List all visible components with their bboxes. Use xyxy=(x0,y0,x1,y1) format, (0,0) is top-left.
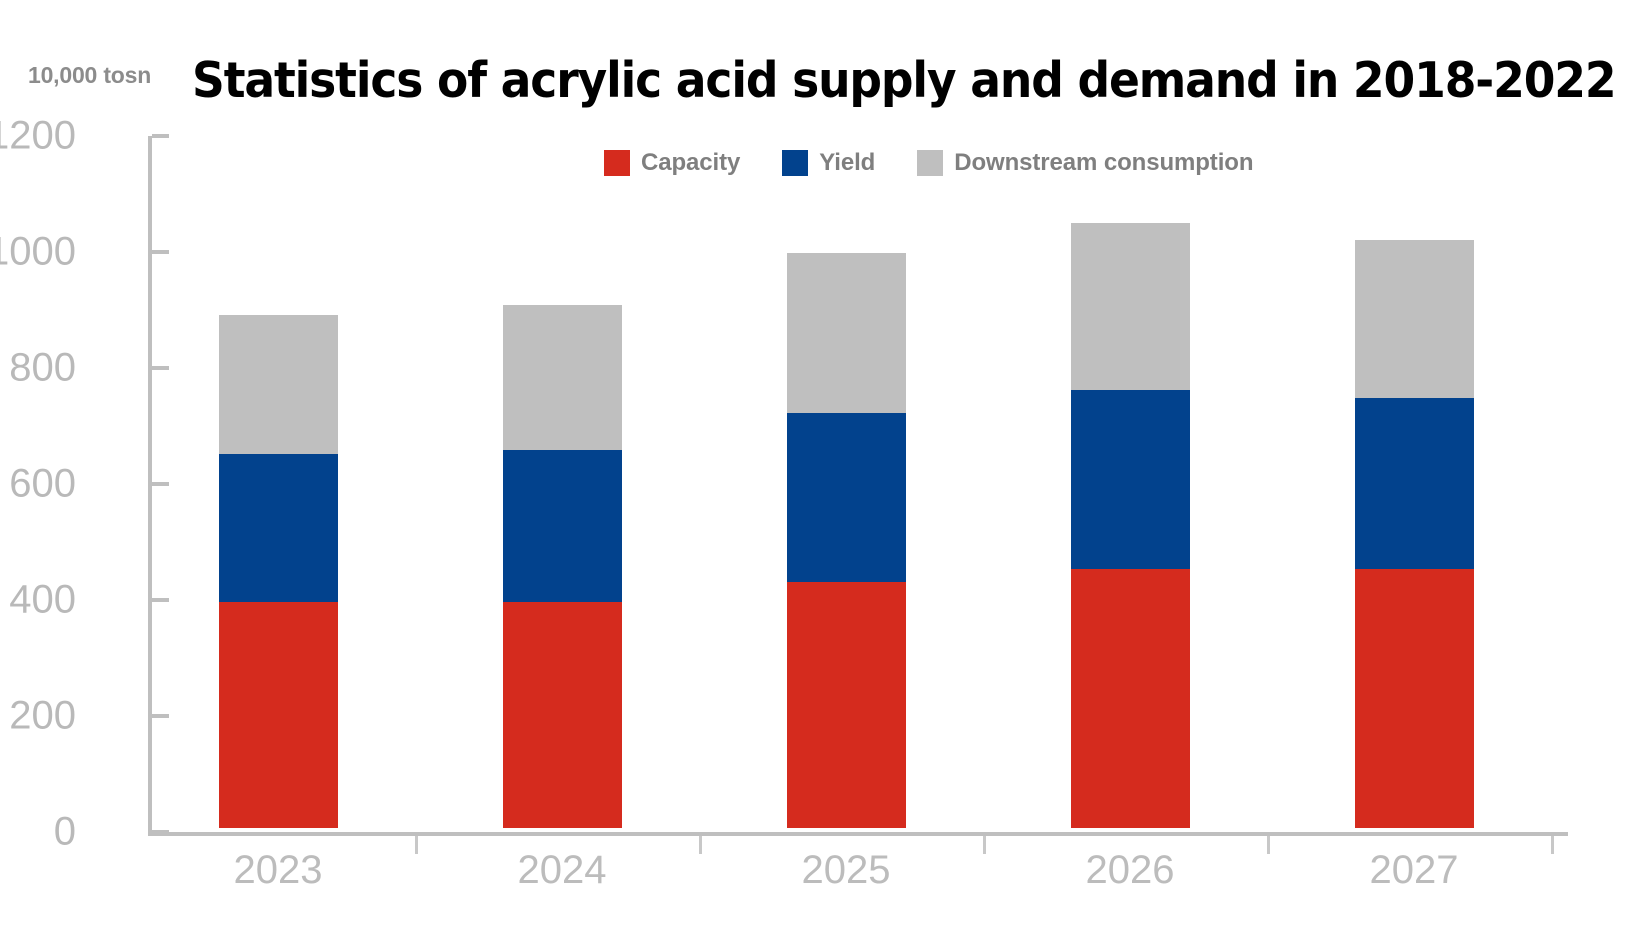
x-axis-tick xyxy=(415,836,418,854)
y-axis-line xyxy=(148,136,152,836)
y-axis-tick xyxy=(152,134,169,138)
x-axis-tick xyxy=(699,836,702,854)
y-axis-tick xyxy=(152,250,169,254)
bar-segment-capacity[interactable] xyxy=(787,582,906,829)
y-axis-tick xyxy=(152,714,169,718)
bar-segment-yield[interactable] xyxy=(1355,398,1474,569)
bar-segment-capacity[interactable] xyxy=(1071,569,1190,828)
bar-segment-downstream-consumption[interactable] xyxy=(787,253,906,414)
bar-segment-yield[interactable] xyxy=(219,454,338,602)
x-axis-tick-label: 2024 xyxy=(442,848,682,893)
y-axis-tick-label: 1000 xyxy=(0,230,76,275)
bar-segment-downstream-consumption[interactable] xyxy=(503,305,622,450)
y-axis-tick-label: 800 xyxy=(0,346,76,391)
plot-area: 0200400600800100012002023202420252026202… xyxy=(148,136,1568,832)
x-axis-tick-label: 2026 xyxy=(1010,848,1250,893)
bar-segment-capacity[interactable] xyxy=(219,602,338,828)
bar-stack-2024[interactable] xyxy=(503,305,622,828)
bar-segment-yield[interactable] xyxy=(503,450,622,602)
y-axis-tick xyxy=(152,366,169,370)
y-axis-tick-label: 1200 xyxy=(0,114,76,159)
y-axis-tick xyxy=(152,598,169,602)
bar-segment-yield[interactable] xyxy=(787,413,906,581)
bar-segment-capacity[interactable] xyxy=(1355,569,1474,828)
y-axis-unit-caption: 10,000 tosn xyxy=(28,62,151,89)
bar-segment-downstream-consumption[interactable] xyxy=(1355,240,1474,398)
x-axis-tick-label: 2023 xyxy=(158,848,398,893)
x-axis-tick-label: 2027 xyxy=(1294,848,1534,893)
bar-segment-yield[interactable] xyxy=(1071,390,1190,569)
bar-stack-2023[interactable] xyxy=(219,315,338,828)
y-axis-tick-label: 600 xyxy=(0,462,76,507)
x-axis-tick xyxy=(983,836,986,854)
x-axis-line xyxy=(148,832,1568,836)
bar-stack-2025[interactable] xyxy=(787,253,906,828)
y-axis-tick-label: 0 xyxy=(0,810,76,855)
bar-segment-downstream-consumption[interactable] xyxy=(219,315,338,454)
bar-segment-capacity[interactable] xyxy=(503,602,622,828)
x-axis-tick-label: 2025 xyxy=(726,848,966,893)
y-axis-tick-label: 200 xyxy=(0,694,76,739)
bar-stack-2026[interactable] xyxy=(1071,223,1190,828)
chart-root: 10,000 tosn Statistics of acrylic acid s… xyxy=(0,0,1642,933)
y-axis-tick xyxy=(152,482,169,486)
x-axis-tick xyxy=(1267,836,1270,854)
y-axis-tick-label: 400 xyxy=(0,578,76,623)
x-axis-tick xyxy=(1551,836,1554,854)
bar-stack-2027[interactable] xyxy=(1355,240,1474,828)
bar-segment-downstream-consumption[interactable] xyxy=(1071,223,1190,390)
y-axis-tick xyxy=(152,830,169,834)
page-title: Statistics of acrylic acid supply and de… xyxy=(192,52,1615,109)
